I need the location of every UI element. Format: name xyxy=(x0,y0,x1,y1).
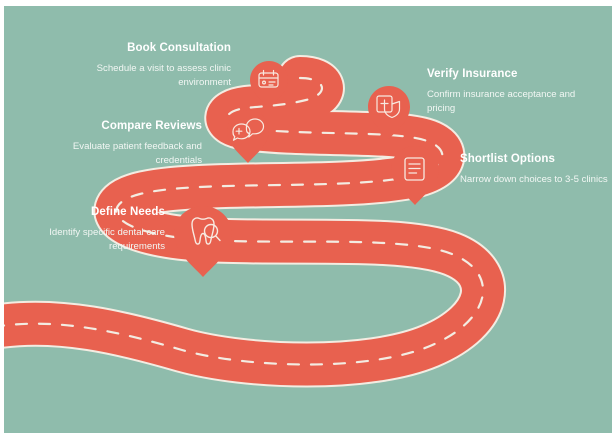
marker-define-needs[interactable] xyxy=(174,206,232,277)
infographic-canvas: Book Consultation Schedule a visit to as… xyxy=(0,0,612,433)
step-description: Identify specific dental care requiremen… xyxy=(10,226,165,254)
step-description: Confirm insurance acceptance and pricing xyxy=(427,88,587,116)
step-title: Book Consultation xyxy=(86,41,231,55)
step-description: Narrow down choices to 3-5 clinics xyxy=(460,173,608,187)
step-label-shortlist-options: Shortlist Options Narrow down choices to… xyxy=(460,152,608,187)
step-label-verify-insurance: Verify Insurance Confirm insurance accep… xyxy=(427,67,587,116)
step-title: Define Needs xyxy=(10,205,165,219)
step-description: Schedule a visit to assess clinic enviro… xyxy=(86,62,231,90)
marker-book-consultation[interactable] xyxy=(250,61,288,108)
step-label-compare-reviews: Compare Reviews Evaluate patient feedbac… xyxy=(62,119,202,168)
step-title: Shortlist Options xyxy=(460,152,608,166)
step-title: Verify Insurance xyxy=(427,67,587,81)
marker-shortlist-options[interactable] xyxy=(391,146,439,205)
step-description: Evaluate patient feedback and credential… xyxy=(62,140,202,168)
step-label-define-needs: Define Needs Identify specific dental ca… xyxy=(10,205,165,254)
marker-verify-insurance[interactable] xyxy=(368,86,410,139)
marker-compare-reviews[interactable] xyxy=(227,110,269,163)
step-title: Compare Reviews xyxy=(62,119,202,133)
step-label-book-consultation: Book Consultation Schedule a visit to as… xyxy=(86,41,231,90)
